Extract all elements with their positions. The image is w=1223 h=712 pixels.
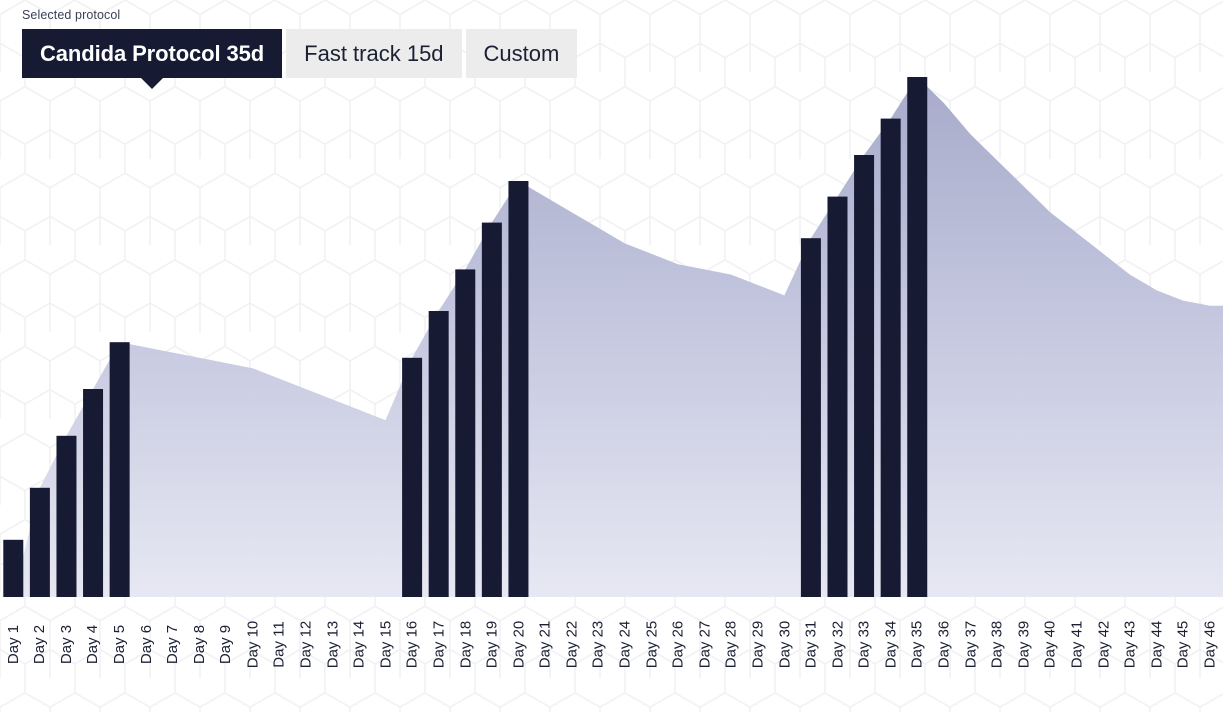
x-tick-label: Day 36 [935, 600, 953, 700]
dose-bar[interactable] [429, 311, 449, 597]
protocol-tab-label: Candida Protocol 35d [40, 41, 264, 67]
x-tick-label: Day 5 [111, 600, 129, 700]
dose-bar[interactable] [56, 436, 76, 597]
dose-bar[interactable] [907, 77, 927, 597]
x-tick-label: Day 20 [509, 600, 527, 700]
x-tick-text: Day 38 [989, 621, 1006, 669]
selected-protocol-label: Selected protocol [22, 8, 120, 22]
x-tick-text: Day 4 [85, 625, 102, 664]
dose-bar[interactable] [455, 269, 475, 597]
x-tick-text: Day 26 [669, 621, 686, 669]
x-tick-text: Day 30 [776, 621, 793, 669]
x-tick-label: Day 33 [855, 600, 873, 700]
protocol-tab-label: Custom [484, 41, 560, 67]
dose-bar[interactable] [83, 389, 103, 597]
x-tick-text: Day 34 [882, 621, 899, 669]
x-tick-text: Day 7 [164, 625, 181, 664]
dose-bar[interactable] [402, 358, 422, 597]
x-tick-label: Day 35 [908, 600, 926, 700]
x-tick-text: Day 23 [590, 621, 607, 669]
x-tick-label: Day 30 [775, 600, 793, 700]
x-tick-label: Day 37 [961, 600, 979, 700]
x-tick-text: Day 28 [723, 621, 740, 669]
x-tick-label: Day 9 [217, 600, 235, 700]
x-tick-label: Day 44 [1148, 600, 1166, 700]
protocol-tab-2[interactable]: Fast track 15d [286, 29, 461, 78]
x-tick-text: Day 17 [430, 621, 447, 669]
protocol-tab-3[interactable]: Custom [466, 29, 578, 78]
x-tick-label: Day 4 [84, 600, 102, 700]
x-tick-text: Day 40 [1042, 621, 1059, 669]
protocol-tab-1[interactable]: Candida Protocol 35d [22, 29, 282, 78]
x-tick-label: Day 46 [1201, 600, 1219, 700]
x-tick-text: Day 24 [616, 621, 633, 669]
x-tick-label: Day 43 [1121, 600, 1139, 700]
x-tick-label: Day 38 [988, 600, 1006, 700]
x-tick-text: Day 20 [510, 621, 527, 669]
dose-bar[interactable] [827, 197, 847, 597]
x-tick-text: Day 25 [643, 621, 660, 669]
x-tick-label: Day 11 [270, 600, 288, 700]
x-tick-text: Day 39 [1015, 621, 1032, 669]
x-tick-text: Day 45 [1175, 621, 1192, 669]
x-tick-label: Day 7 [164, 600, 182, 700]
x-tick-text: Day 32 [829, 621, 846, 669]
x-tick-label: Day 14 [350, 600, 368, 700]
x-tick-text: Day 15 [377, 621, 394, 669]
x-tick-text: Day 41 [1068, 621, 1085, 669]
x-tick-label: Day 21 [536, 600, 554, 700]
x-tick-label: Day 28 [722, 600, 740, 700]
dose-bar[interactable] [508, 181, 528, 597]
x-tick-label: Day 10 [244, 600, 262, 700]
active-tab-pointer-icon [141, 78, 163, 89]
x-tick-text: Day 1 [5, 625, 22, 664]
dose-bar[interactable] [482, 223, 502, 597]
dose-bar[interactable] [30, 488, 50, 597]
x-tick-label: Day 25 [642, 600, 660, 700]
dose-bar[interactable] [110, 342, 130, 597]
x-tick-label: Day 26 [669, 600, 687, 700]
x-tick-text: Day 35 [909, 621, 926, 669]
x-tick-label: Day 24 [616, 600, 634, 700]
x-tick-text: Day 33 [856, 621, 873, 669]
protocol-tab-label: Fast track 15d [304, 41, 443, 67]
dose-bar[interactable] [801, 238, 821, 597]
x-tick-label: Day 40 [1041, 600, 1059, 700]
x-tick-label: Day 31 [802, 600, 820, 700]
x-tick-text: Day 9 [217, 625, 234, 664]
x-tick-text: Day 11 [271, 621, 288, 667]
x-tick-label: Day 15 [377, 600, 395, 700]
x-tick-text: Day 22 [563, 621, 580, 669]
x-tick-label: Day 8 [190, 600, 208, 700]
x-tick-text: Day 36 [935, 621, 952, 669]
protocol-dose-chart-panel: Day 1Day 2Day 3Day 4Day 5Day 6Day 7Day 8… [0, 0, 1223, 712]
x-tick-text: Day 18 [457, 621, 474, 669]
x-tick-text: Day 8 [191, 625, 208, 664]
x-tick-label: Day 6 [137, 600, 155, 700]
x-tick-label: Day 18 [456, 600, 474, 700]
x-tick-label: Day 13 [323, 600, 341, 700]
x-tick-label: Day 39 [1015, 600, 1033, 700]
x-tick-label: Day 22 [563, 600, 581, 700]
dose-bar[interactable] [854, 155, 874, 597]
x-tick-label: Day 45 [1174, 600, 1192, 700]
x-tick-text: Day 43 [1121, 621, 1138, 669]
x-tick-label: Day 27 [696, 600, 714, 700]
x-tick-text: Day 13 [324, 621, 341, 669]
x-tick-text: Day 14 [350, 621, 367, 669]
x-axis-tick-labels: Day 1Day 2Day 3Day 4Day 5Day 6Day 7Day 8… [0, 600, 1223, 712]
x-tick-text: Day 37 [962, 621, 979, 669]
x-tick-label: Day 32 [828, 600, 846, 700]
x-tick-text: Day 46 [1201, 621, 1218, 669]
dose-bar[interactable] [881, 119, 901, 597]
x-tick-label: Day 19 [483, 600, 501, 700]
x-tick-text: Day 21 [537, 621, 554, 669]
x-tick-text: Day 3 [58, 625, 75, 664]
x-tick-text: Day 42 [1095, 621, 1112, 669]
x-tick-text: Day 2 [31, 625, 48, 664]
x-tick-label: Day 3 [57, 600, 75, 700]
x-tick-label: Day 42 [1094, 600, 1112, 700]
x-tick-text: Day 27 [696, 621, 713, 669]
x-tick-label: Day 12 [297, 600, 315, 700]
x-tick-label: Day 34 [882, 600, 900, 700]
x-tick-label: Day 16 [403, 600, 421, 700]
x-tick-text: Day 12 [297, 621, 314, 669]
x-tick-label: Day 17 [430, 600, 448, 700]
x-tick-label: Day 29 [749, 600, 767, 700]
dose-bar[interactable] [3, 540, 23, 597]
x-tick-text: Day 31 [802, 621, 819, 669]
x-tick-label: Day 41 [1068, 600, 1086, 700]
x-tick-text: Day 16 [404, 621, 421, 669]
x-tick-text: Day 29 [749, 621, 766, 669]
x-tick-text: Day 19 [483, 621, 500, 669]
x-tick-text: Day 10 [244, 621, 261, 669]
x-tick-text: Day 6 [138, 625, 155, 664]
x-tick-text: Day 44 [1148, 621, 1165, 669]
protocol-tab-strip: Candida Protocol 35dFast track 15dCustom [22, 29, 577, 78]
x-tick-label: Day 2 [31, 600, 49, 700]
x-tick-label: Day 1 [4, 600, 22, 700]
cumulative-exposure-area [3, 77, 1223, 597]
x-tick-label: Day 23 [589, 600, 607, 700]
x-tick-text: Day 5 [111, 625, 128, 664]
